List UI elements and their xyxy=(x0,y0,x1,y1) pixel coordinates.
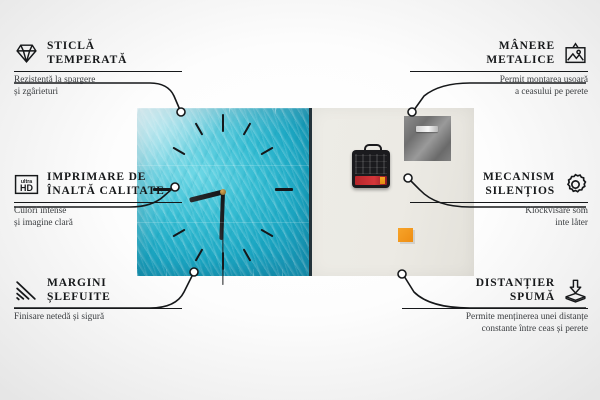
callout-metal-handles: MÂNERE METALICE Permit montarea ușoară a… xyxy=(410,40,588,98)
gear-icon xyxy=(563,172,588,197)
callout-subtitle: Rezistență la spargere și zgârieturi xyxy=(14,75,182,98)
callout-polished-edges: MARGINI ȘLEFUITE Finisare netedă și sigu… xyxy=(14,277,182,324)
callout-subtitle: Permit montarea ușoară a ceasului pe per… xyxy=(410,75,588,98)
callout-rule xyxy=(410,202,588,203)
callout-title: MARGINI ȘLEFUITE xyxy=(47,277,111,304)
hour-hand xyxy=(189,189,223,202)
callout-high-quality-print: ultra HD IMPRIMARE DE ÎNALTĂ CALITATE Cu… xyxy=(14,171,182,229)
callout-title: MÂNERE METALICE xyxy=(486,40,555,67)
callout-rule xyxy=(14,71,182,72)
callout-subtitle: Culori intense și imagine clară xyxy=(14,206,182,229)
callout-title: DISTANȚIER SPUMĂ xyxy=(476,277,555,304)
infographic-stage: STICLĂ TEMPERATĂ Rezistență la spargere … xyxy=(0,0,600,400)
callout-title: MECANISM SILENȚIOS xyxy=(483,171,555,198)
wall-mount-frame-icon xyxy=(563,41,588,66)
callout-subtitle: Finisare netedă și sigură xyxy=(14,312,182,324)
callout-subtitle: Klockvisare som inte låter xyxy=(410,206,588,229)
clock-mechanism-part xyxy=(352,150,390,188)
callout-rule xyxy=(402,308,588,309)
callout-rule xyxy=(14,202,182,203)
ultra-hd-icon: ultra HD xyxy=(14,172,39,197)
hands-center-cap xyxy=(220,189,226,195)
callout-rule xyxy=(14,308,182,309)
glass-glare xyxy=(137,108,309,170)
callout-title: STICLĂ TEMPERATĂ xyxy=(47,40,127,67)
callout-subtitle: Permite menținerea unei distanțe constan… xyxy=(402,312,588,335)
diamond-icon xyxy=(14,41,39,66)
second-hand xyxy=(222,211,223,285)
foam-spacer-part xyxy=(398,228,413,242)
svg-text:HD: HD xyxy=(20,183,33,193)
metal-hanger-part xyxy=(404,116,451,161)
callout-tempered-glass: STICLĂ TEMPERATĂ Rezistență la spargere … xyxy=(14,40,182,98)
callout-foam-spacer: DISTANȚIER SPUMĂ Permite menținerea unei… xyxy=(402,277,588,335)
arrow-down-pad-icon xyxy=(563,278,588,303)
callout-title: IMPRIMARE DE ÎNALTĂ CALITATE xyxy=(47,171,165,198)
diagonal-stripes-icon xyxy=(14,278,39,303)
callout-silent-mechanism: MECANISM SILENȚIOS Klockvisare som inte … xyxy=(410,171,588,229)
battery-part xyxy=(355,176,387,185)
callout-rule xyxy=(410,71,588,72)
mechanism-body xyxy=(355,154,387,174)
minute-hand xyxy=(219,192,225,240)
